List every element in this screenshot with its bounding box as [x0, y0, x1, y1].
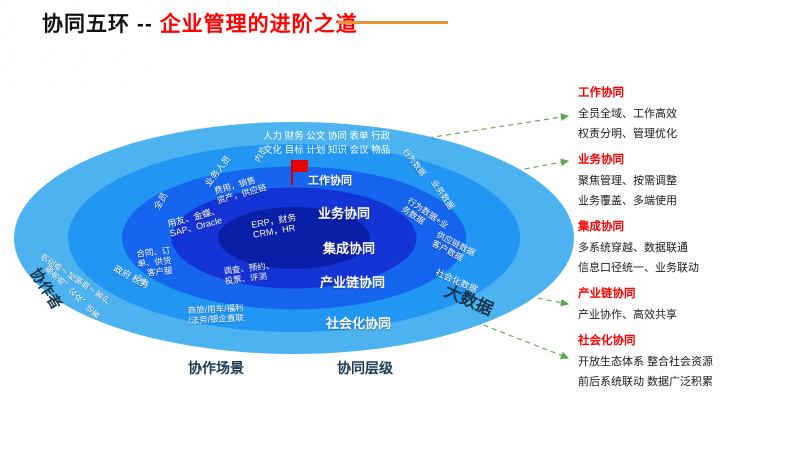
axis-label-collab-scenarios: 协作场景	[188, 358, 244, 378]
panel-line: 聚焦管理、按需调整	[578, 172, 787, 188]
panel-line: 权责分明、管理优化	[578, 125, 787, 141]
panel-block-industry: 产业链协同 产业协作、高效共享	[578, 285, 787, 322]
scene-label-travel-legal: 商旅/用车/福利 /法务/银企直联	[188, 304, 245, 326]
panel-line: 产业协作、高效共享	[578, 306, 787, 322]
panel-heading-integration: 集成协同	[578, 218, 787, 234]
detail-panel: 工作协同 全员全域、工作高效 权责分明、管理优化 业务协同 聚焦管理、按需调整 …	[578, 84, 787, 399]
panel-block-integration: 集成协同 多系统穿越、数据联通 信息口径统一、业务联动	[578, 218, 787, 275]
panel-heading-social: 社会化协同	[578, 332, 787, 348]
core-module-line-1: 人力 财务 公文 协同 表单 行政	[263, 130, 390, 144]
core-module-list: 人力 财务 公文 协同 表单 行政 文化 目标 计划 知识 会议 物品	[263, 130, 390, 159]
panel-line: 业务覆盖、多端使用	[578, 192, 787, 208]
page-title-dash: --	[137, 13, 153, 36]
panel-heading-work: 工作协同	[578, 84, 787, 100]
panel-block-business: 业务协同 聚焦管理、按需调整 业务覆盖、多端使用	[578, 151, 787, 208]
panel-block-work: 工作协同 全员全域、工作高效 权责分明、管理优化	[578, 84, 787, 141]
panel-line: 前后系统联动 数据广泛积累	[578, 373, 787, 389]
ring-label-social: 社会化协同	[326, 313, 391, 332]
panel-heading-business: 业务协同	[578, 151, 787, 167]
ring-label-integration: 集成协同	[323, 238, 375, 257]
slide-canvas: 协同五环 -- 企业管理的进阶之道 人力 财务 公文 协同 表单 行政 文化 目…	[0, 0, 787, 464]
page-title-main: 协同五环	[42, 13, 130, 36]
ring-label-industry: 产业链协同	[320, 272, 385, 291]
panel-heading-industry: 产业链协同	[578, 285, 787, 301]
panel-line: 多系统穿越、数据联通	[578, 239, 787, 255]
panel-block-social: 社会化协同 开放生态体系 整合社会资源 前后系统联动 数据广泛积累	[578, 332, 787, 389]
red-flag-icon	[291, 160, 293, 185]
ring-label-business: 业务协同	[318, 203, 370, 222]
scene-label-contract-order: 合同、订 单、供货 、客户服 务	[136, 246, 174, 288]
axis-label-collab-levels: 协同层级	[337, 358, 393, 378]
ring-label-work: 工作协同	[308, 172, 352, 188]
panel-line: 开放生态体系 整合社会资源	[578, 353, 787, 369]
title-underline-rule	[338, 21, 448, 24]
page-title-sub: 企业管理的进阶之道	[160, 13, 358, 36]
core-module-line-2: 文化 目标 计划 知识 会议 物品	[263, 144, 390, 158]
page-title: 协同五环 -- 企业管理的进阶之道	[42, 8, 358, 38]
panel-line: 信息口径统一、业务联动	[578, 259, 787, 275]
panel-line: 全员全域、工作高效	[578, 105, 787, 121]
